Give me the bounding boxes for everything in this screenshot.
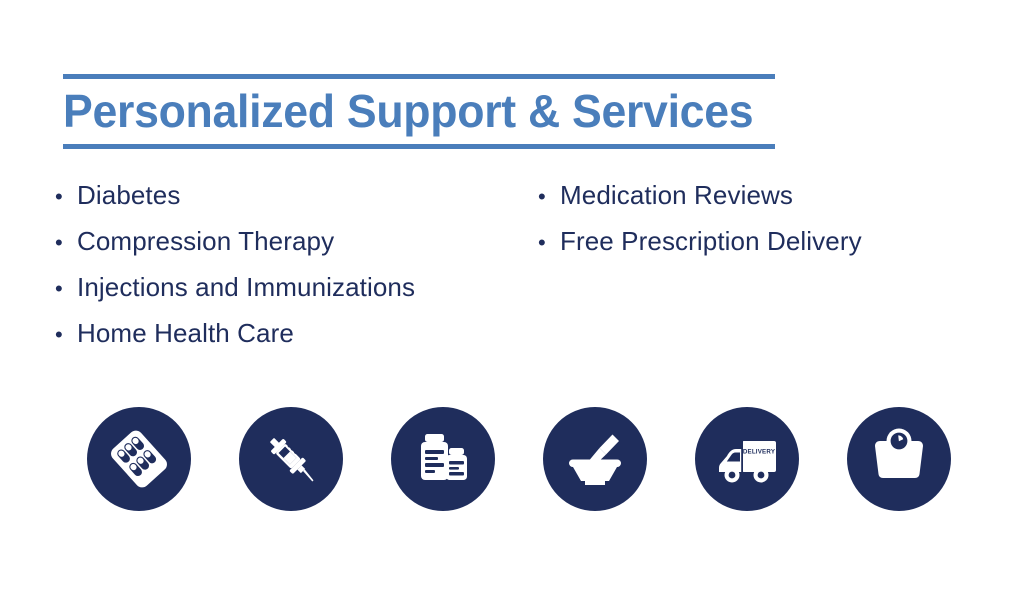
list-item-label: Home Health Care [77, 316, 294, 350]
bullet-dot-icon: • [538, 182, 560, 212]
list-item-label: Diabetes [77, 178, 180, 212]
list-item-label: Medication Reviews [560, 178, 793, 212]
icon-badge-pill-bottles [391, 407, 495, 511]
title-block: Personalized Support & Services [63, 74, 775, 149]
icon-badge-blister-pack [87, 407, 191, 511]
bullet-dot-icon: • [55, 274, 77, 304]
list-item: • Compression Therapy [55, 224, 525, 270]
title-rule-bottom [63, 144, 775, 149]
list-item-label: Injections and Immunizations [77, 270, 415, 304]
pill-bottles-icon [412, 428, 474, 490]
icon-badge-mortar-pestle [543, 407, 647, 511]
page-title: Personalized Support & Services [63, 79, 754, 144]
icon-badge-syringe [239, 407, 343, 511]
list-item-label: Free Prescription Delivery [560, 224, 862, 258]
truck-side-text: DELIVERY [743, 449, 776, 456]
mortar-pestle-icon [563, 427, 627, 491]
services-column-left: • Diabetes • Compression Therapy • Injec… [55, 178, 525, 362]
bullet-dot-icon: • [538, 228, 560, 258]
icon-badge-weight-scale [847, 407, 951, 511]
bullet-dot-icon: • [55, 228, 77, 258]
service-icon-row: DELIVERY [0, 407, 1025, 517]
weight-scale-icon [868, 428, 930, 490]
delivery-truck-icon: DELIVERY [713, 425, 781, 493]
bullet-dot-icon: • [55, 182, 77, 212]
bullet-dot-icon: • [55, 320, 77, 350]
blister-pack-icon [108, 428, 170, 490]
list-item: • Free Prescription Delivery [538, 224, 1008, 270]
list-item-label: Compression Therapy [77, 224, 334, 258]
list-item: • Medication Reviews [538, 178, 1008, 224]
list-item: • Injections and Immunizations [55, 270, 525, 316]
icon-badge-delivery-truck: DELIVERY [695, 407, 799, 511]
slide-canvas: Personalized Support & Services • Diabet… [0, 0, 1025, 590]
list-item: • Home Health Care [55, 316, 525, 362]
syringe-icon [260, 428, 322, 490]
services-lists: • Diabetes • Compression Therapy • Injec… [0, 178, 1025, 368]
services-column-right: • Medication Reviews • Free Prescription… [538, 178, 1008, 270]
list-item: • Diabetes [55, 178, 525, 224]
